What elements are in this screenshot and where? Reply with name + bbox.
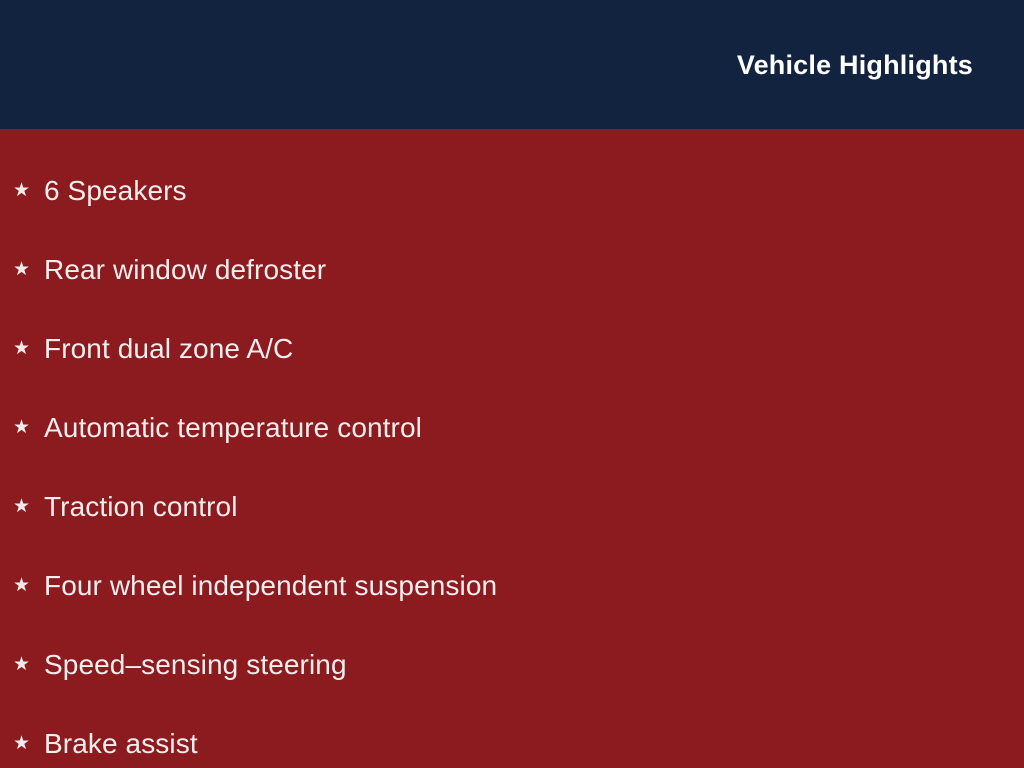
vehicle-highlights-slide: Vehicle Highlights ★ 6 Speakers ★ Rear w… [0,0,1024,768]
page-title: Vehicle Highlights [737,51,973,81]
list-item: ★ Automatic temperature control [0,389,1024,468]
list-item: ★ Front dual zone A/C [0,310,1024,389]
list-item-label: Front dual zone A/C [44,334,1024,365]
star-icon: ★ [13,497,44,516]
list-item-label: Traction control [44,492,1024,523]
star-icon: ★ [13,181,44,200]
slide-body: ★ 6 Speakers ★ Rear window defroster ★ F… [0,129,1024,768]
list-item-label: 6 Speakers [44,176,1024,207]
list-item-label: Four wheel independent suspension [44,571,1024,602]
star-icon: ★ [13,576,44,595]
list-item: ★ Traction control [0,468,1024,547]
star-icon: ★ [13,418,44,437]
list-item: ★ Speed–sensing steering [0,626,1024,705]
star-icon: ★ [13,734,44,753]
list-item: ★ Four wheel independent suspension [0,547,1024,626]
list-item-label: Speed–sensing steering [44,650,1024,681]
list-item: ★ Rear window defroster [0,231,1024,310]
star-icon: ★ [13,655,44,674]
slide-header: Vehicle Highlights [0,0,1024,129]
list-item: ★ Brake assist [0,705,1024,768]
list-item-label: Automatic temperature control [44,413,1024,444]
list-item-label: Rear window defroster [44,255,1024,286]
list-item-label: Brake assist [44,729,1024,760]
star-icon: ★ [13,260,44,279]
star-icon: ★ [13,339,44,358]
vehicle-highlights-list: ★ 6 Speakers ★ Rear window defroster ★ F… [0,152,1024,768]
list-item: ★ 6 Speakers [0,152,1024,231]
